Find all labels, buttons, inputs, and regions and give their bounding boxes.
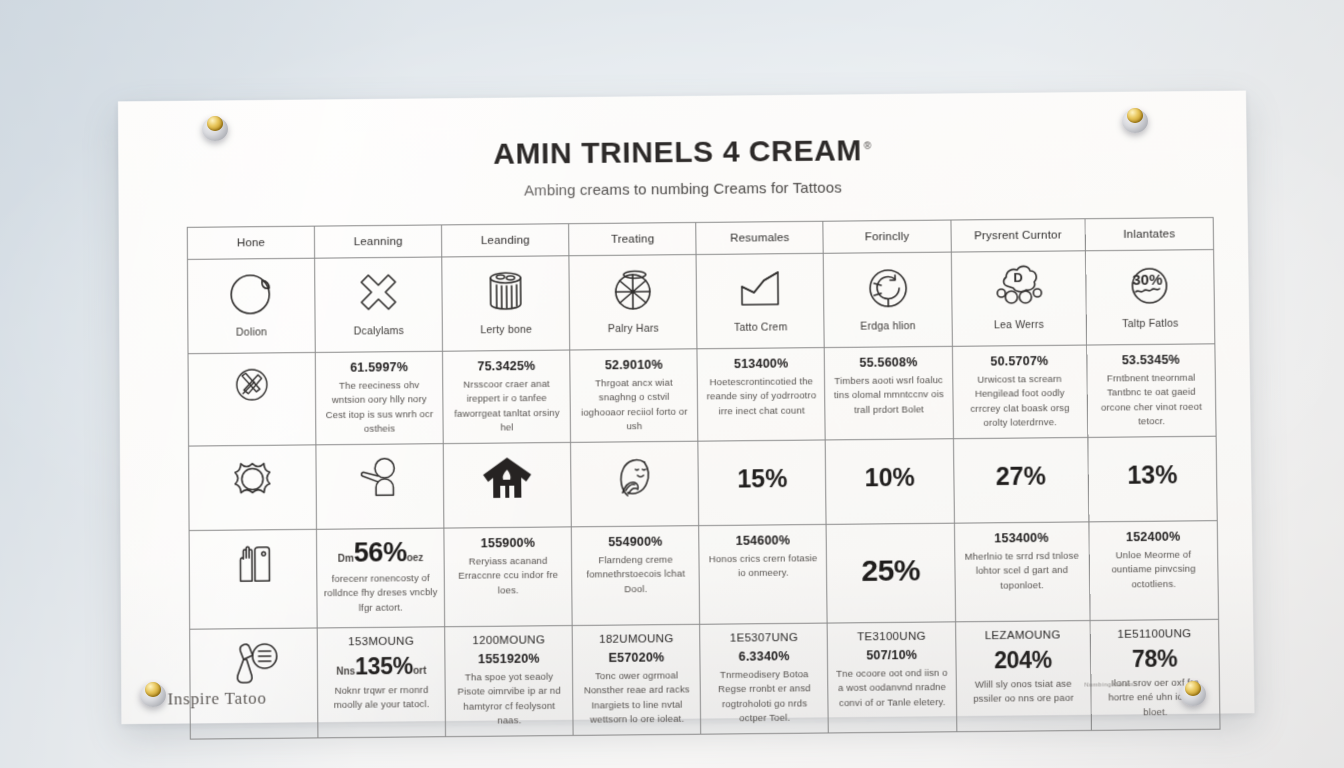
stat-value: 50.5707% (959, 354, 1081, 369)
crossed-tools-icon (229, 361, 275, 408)
stat-cell: 1E51100UNG 78% Ilont srov oer oxf fro ho… (1090, 619, 1220, 730)
icon-cell-dcalylams: Dcalylams (315, 257, 443, 352)
stat-value: 15% (705, 448, 820, 492)
stat-cell: 153MOUNG Nns135%ort Noknr trqwr er rnonr… (317, 627, 445, 738)
stat-big-wrap: Dm56%oez (323, 536, 438, 568)
percent-circle-icon: 30% (1124, 258, 1177, 311)
stat-description: Nrsscoor craer anat ireppert ir o tanfee… (449, 378, 564, 437)
icon-cell-taltp-fatlos: 30% Taltp Fatlos (1085, 250, 1215, 345)
poster-sheet: AMIN TRINELS 4 CREAM® Ambing creams to n… (118, 91, 1254, 725)
column-header-leanning[interactable]: Leanning (314, 225, 441, 258)
icon-cell-face-care (571, 441, 699, 527)
stat-prefix: Nns (336, 666, 355, 677)
stat-cell: 10% (826, 438, 954, 524)
table-row: 153MOUNG Nns135%ort Noknr trqwr er rnonr… (190, 619, 1220, 739)
stat-description: Reryiass acanand Erraccnre ccu indor fre… (451, 554, 566, 599)
stat-description: Thrgoat ancx wiat snaghng o cstvil iogho… (577, 376, 692, 435)
stat-cell: 75.3425% Nrsscoor craer anat ireppert ir… (443, 350, 571, 443)
stat-cell: 52.9010% Thrgoat ancx wiat snaghng o cst… (570, 349, 698, 442)
stat-cell: 25% (827, 523, 956, 623)
stat-value: 204% (962, 646, 1084, 674)
stat-value: 53.5345% (1093, 352, 1209, 367)
stat-lead: TE3100UNG (834, 630, 949, 643)
stat-cell: 50.5707% Urwicost ta screarn Hengilead f… (952, 345, 1088, 438)
growth-chart-icon (734, 262, 787, 315)
stat-cell: 27% (953, 437, 1089, 523)
stat-lead: 1E5307UNG (707, 631, 822, 644)
stat-description: Tonc ower ogrmoal Nonsther reae ard rack… (579, 669, 694, 728)
globe-pie-icon (607, 263, 660, 316)
stat-value: 153400% (961, 530, 1083, 545)
stat-value: 75.3425% (449, 359, 563, 374)
stat-value: 1551920% (452, 651, 567, 666)
stat-cell: 13% (1088, 436, 1218, 522)
face-care-icon (609, 450, 662, 503)
icon-cell-tatto-crem: Tatto Crem (696, 253, 824, 348)
house-filled-icon (481, 451, 534, 504)
column-header-treating[interactable]: Treating (569, 222, 697, 255)
icon-caption: Palry Hars (608, 323, 659, 336)
stat-description: forecenr ronencosty of rolldnce fhy dres… (323, 572, 438, 617)
icon-caption: Tatto Crem (734, 321, 788, 334)
icon-caption: Lerty bone (480, 324, 532, 337)
stat-cell: 1200MOUNG 1551920% Tha spoe yot seaoly P… (445, 625, 574, 736)
stat-description: Unloe Meorme of ountiame pinvcsing octot… (1096, 548, 1212, 593)
stat-lead: 153MOUNG (324, 635, 439, 648)
stat-value: 507/10% (834, 647, 949, 662)
stat-value: 61.5997% (322, 360, 436, 375)
stat-cell: 513400% Hoetescrontincotied the reande s… (697, 348, 825, 441)
icon-cell-shield-badge (189, 445, 317, 531)
column-header-forinclly[interactable]: Forinclly (823, 220, 951, 253)
column-header-hone[interactable]: Hone (187, 226, 314, 259)
person-search-icon (355, 452, 406, 503)
poster-header: AMIN TRINELS 4 CREAM® Ambing creams to n… (118, 91, 1247, 204)
stat-cell: 152400% Unloe Meorme of ountiame pinvcsi… (1089, 520, 1219, 620)
jar-container-icon (480, 265, 533, 318)
stat-cell: 153400% Mherlnio te srrd rsd tnlose loht… (954, 522, 1090, 622)
icon-cell-glove (189, 529, 317, 629)
corner-note: Numbing Cream (1084, 682, 1133, 689)
icon-caption: Dcalylams (354, 325, 404, 338)
icon-cell-dolion: Dolion (187, 258, 315, 353)
page-subtitle: Ambing creams to numbing Creams for Tatt… (118, 176, 1247, 204)
stat-lead: 182UMOUNG (579, 633, 694, 646)
stat-value: 55.5608% (831, 355, 945, 370)
cloud-bubbles-d-icon: D (989, 260, 1048, 313)
icon-cell-crossed-tools (188, 352, 316, 445)
stat-value: 78% (1097, 645, 1213, 673)
table-row: 15% 10% 27% 13% (189, 436, 1218, 530)
table-row: 61.5997% The reeciness ohv wntsion oory … (188, 344, 1216, 446)
stat-suffix: oez (407, 553, 424, 564)
stat-lead: 1200MOUNG (451, 634, 566, 647)
stat-description: Timbers aooti wsrl foaluc tins olomal mm… (831, 374, 946, 419)
stat-description: Frntbnent tneornmal Tantbnc te oat gaeid… (1093, 371, 1209, 430)
stat-cell: 15% (698, 440, 826, 526)
stat-value: 6.3340% (707, 649, 822, 664)
column-header-prysrent-curntor[interactable]: Prysrent Curntor (951, 219, 1086, 252)
column-header-leanding[interactable]: Leanding (442, 224, 569, 257)
stat-value: 155900% (451, 535, 566, 550)
stat-prefix: Dm (338, 553, 354, 564)
stat-cell: 53.5345% Frntbnent tneornmal Tantbnc te … (1086, 344, 1216, 437)
page-title-text: AMIN TRINELS 4 CREAM (493, 134, 862, 171)
stat-cell: 182UMOUNG E57020% Tonc ower ogrmoal Nons… (572, 624, 701, 735)
stat-cell: 1E5307UNG 6.3340% Tnrmeodisery Botoa Reg… (700, 623, 829, 734)
icon-caption: Erdga hlion (860, 320, 916, 333)
stat-value: E57020% (579, 650, 694, 665)
icon-cell-palry-hars: Palry Hars (569, 255, 697, 350)
stat-description: Hoetescrontincotied the reande siny of y… (704, 375, 819, 420)
stat-suffix: ort (413, 665, 426, 676)
svg-text:D: D (1014, 270, 1024, 285)
stat-value: 52.9010% (577, 357, 691, 372)
spray-bottle-search-icon (225, 637, 282, 690)
svg-text:30%: 30% (1133, 272, 1163, 289)
page-title: AMIN TRINELS 4 CREAM® (493, 134, 872, 171)
stat-value: 27% (960, 446, 1082, 490)
icon-caption: Dolion (236, 326, 267, 338)
stat-description: Tha spoe yot seaoly Pisote oimrvibe ip a… (452, 670, 567, 729)
stat-big-wrap: Nns135%ort (324, 652, 439, 680)
stat-value: 25% (833, 532, 948, 589)
stat-value: 56% (354, 537, 407, 568)
icon-cell-lea-werrs: D Lea Werrs (951, 251, 1087, 347)
stat-cell: LEZAMOUNG 204% Wlill sly onos tsiat ase … (955, 620, 1091, 731)
icon-cell-lerty-bone: Lerty bone (442, 256, 570, 351)
stat-description: Honos crics crern fotasie io onmeery. (706, 552, 821, 582)
cross-x-icon (352, 266, 404, 319)
stat-value: 13% (1094, 445, 1210, 489)
stat-cell: TE3100UNG 507/10% Tne ocoore oot ond iis… (828, 622, 957, 733)
stat-description: Tnrmeodisery Botoa Regse rronbt er ansd … (707, 668, 822, 727)
stat-cell: 61.5997% The reeciness ohv wntsion oory … (315, 351, 443, 444)
icon-cell-house (443, 442, 571, 528)
stat-description: Mherlnio te srrd rsd tnlose lohtor scel … (961, 549, 1083, 594)
icon-cell-spray-bottle (190, 628, 318, 739)
column-header-resumales[interactable]: Resumales (696, 221, 824, 254)
stat-description: Flarndeng creme fomnethrstoecois lchat D… (578, 553, 693, 598)
stat-cell: 55.5608% Timbers aooti wsrl foaluc tins … (825, 346, 953, 439)
stat-description: The reeciness ohv wntsion oory hlly nory… (322, 379, 437, 438)
stat-value: 154600% (706, 533, 821, 548)
stat-value: 513400% (704, 356, 818, 371)
infographic-table-wrapper: Hone Leanning Leanding Treating Resumale… (187, 217, 1221, 739)
glove-icon (228, 538, 278, 589)
stat-lead: 1E51100UNG (1097, 628, 1213, 641)
icon-cell-erdga-hlion: Erdga hlion (824, 252, 952, 347)
stat-value: 10% (832, 447, 947, 491)
stat-value: 152400% (1095, 529, 1211, 544)
stat-description: Wlill sly onos tsiat ase pssiler oo nns … (962, 677, 1084, 707)
stat-cell: 154600% Honos crics crern fotasie io onm… (699, 524, 828, 624)
icon-cell-person-search (316, 443, 444, 529)
table-row: Dm56%oez forecenr ronencosty of rolldnce… (189, 520, 1218, 629)
refresh-circle-icon (861, 261, 914, 314)
stat-cell: Dm56%oez forecenr ronencosty of rolldnce… (317, 528, 445, 628)
icon-caption: Lea Werrs (994, 319, 1044, 332)
registered-mark: ® (864, 141, 872, 152)
brand-footer: Inspire Tatoo (167, 688, 266, 709)
circle-leaf-icon (225, 267, 277, 320)
icon-caption: Taltp Fatlos (1122, 318, 1178, 331)
stat-value: 135% (355, 653, 413, 680)
shield-badge-icon (227, 454, 277, 505)
stat-description: Tne ocoore oot ond iisn o a wost oodanvn… (835, 666, 950, 711)
stat-value: 554900% (578, 534, 693, 549)
stat-description: Noknr trqwr er rnonrd moolly ale your ta… (324, 684, 439, 714)
stat-cell: 155900% Reryiass acanand Erraccnre ccu i… (444, 527, 572, 627)
infographic-table: Hone Leanning Leanding Treating Resumale… (187, 217, 1221, 739)
column-header-inlantates[interactable]: Inlantates (1085, 218, 1214, 251)
stat-cell: 554900% Flarndeng creme fomnethrstoecois… (572, 525, 700, 625)
table-row: Dolion Dcalylams (187, 250, 1214, 354)
stat-lead: LEZAMOUNG (962, 629, 1084, 642)
stat-description: Urwicost ta screarn Hengilead foot oodly… (959, 373, 1081, 432)
